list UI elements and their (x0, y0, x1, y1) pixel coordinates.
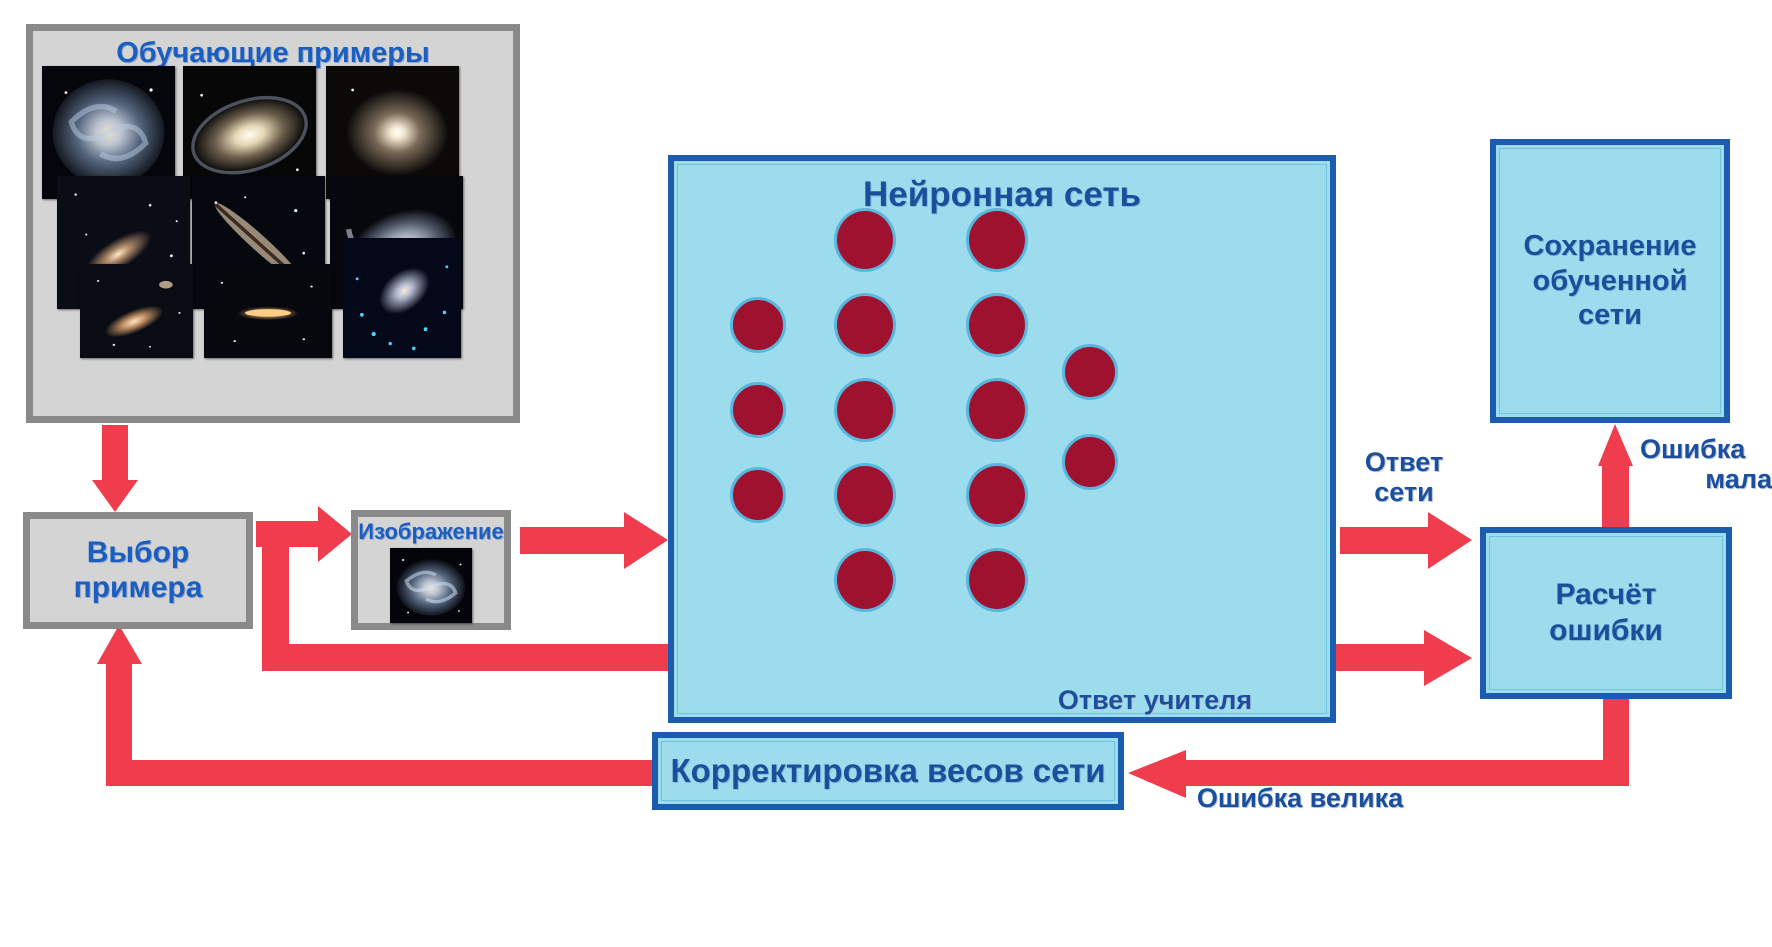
neuron-output-2 (1062, 434, 1118, 490)
label-network-answer: Ответ сети (1340, 447, 1468, 507)
label-network-answer-line1: Ответ (1340, 447, 1468, 477)
neuron-input-2 (730, 382, 786, 438)
neuron-hidden1-2 (834, 293, 896, 357)
label-error-small-line2: мала (1640, 464, 1772, 494)
image-box-title: Изображение (358, 519, 504, 545)
select-example-line1: Выбор (74, 536, 203, 571)
save-network-line2: обученной (1523, 264, 1696, 299)
galaxy-thumbnail (80, 264, 193, 358)
neuron-hidden1-5 (834, 548, 896, 612)
weight-update-label: Корректировка весов сети (670, 752, 1105, 790)
label-network-answer-line2: сети (1340, 477, 1468, 507)
weight-update-box[interactable]: Корректировка весов сети (652, 732, 1124, 810)
neuron-hidden1-3 (834, 378, 896, 442)
label-error-small: Ошибка мала (1640, 434, 1772, 494)
select-example-box[interactable]: Выбор примера (23, 512, 253, 629)
error-calc-box[interactable]: Расчёт ошибки (1480, 527, 1732, 699)
select-example-line2: примера (74, 571, 203, 606)
neuron-input-1 (730, 297, 786, 353)
error-calc-line2: ошибки (1549, 613, 1663, 649)
galaxy-thumbnail (390, 548, 472, 623)
neuron-hidden2-1 (966, 208, 1028, 272)
label-error-small-line1: Ошибка (1640, 434, 1772, 464)
label-teacher-answer: Ответ учителя (1040, 685, 1270, 715)
neuron-hidden1-4 (834, 463, 896, 527)
neuron-hidden1-1 (834, 208, 896, 272)
arrow-examples-to-select (92, 425, 138, 512)
arrow-network-to-error (1340, 512, 1472, 569)
diagram-canvas: Обучающие примеры (0, 0, 1772, 947)
galaxy-thumbnail (343, 238, 461, 358)
save-network-line3: сети (1523, 298, 1696, 333)
neuron-hidden2-4 (966, 463, 1028, 527)
arrow-image-to-network (520, 512, 668, 569)
save-network-line1: Сохранение (1523, 229, 1696, 264)
neuron-hidden2-5 (966, 548, 1028, 612)
arrow-error-to-save (1598, 424, 1633, 528)
neuron-output-1 (1062, 344, 1118, 400)
label-error-large: Ошибка велика (1175, 783, 1425, 813)
neuron-hidden2-2 (966, 293, 1028, 357)
error-calc-line1: Расчёт (1549, 577, 1663, 613)
save-network-box[interactable]: Сохранение обученной сети (1490, 139, 1730, 423)
neuron-input-3 (730, 467, 786, 523)
galaxy-thumbnail (204, 264, 332, 358)
neuron-hidden2-3 (966, 378, 1028, 442)
